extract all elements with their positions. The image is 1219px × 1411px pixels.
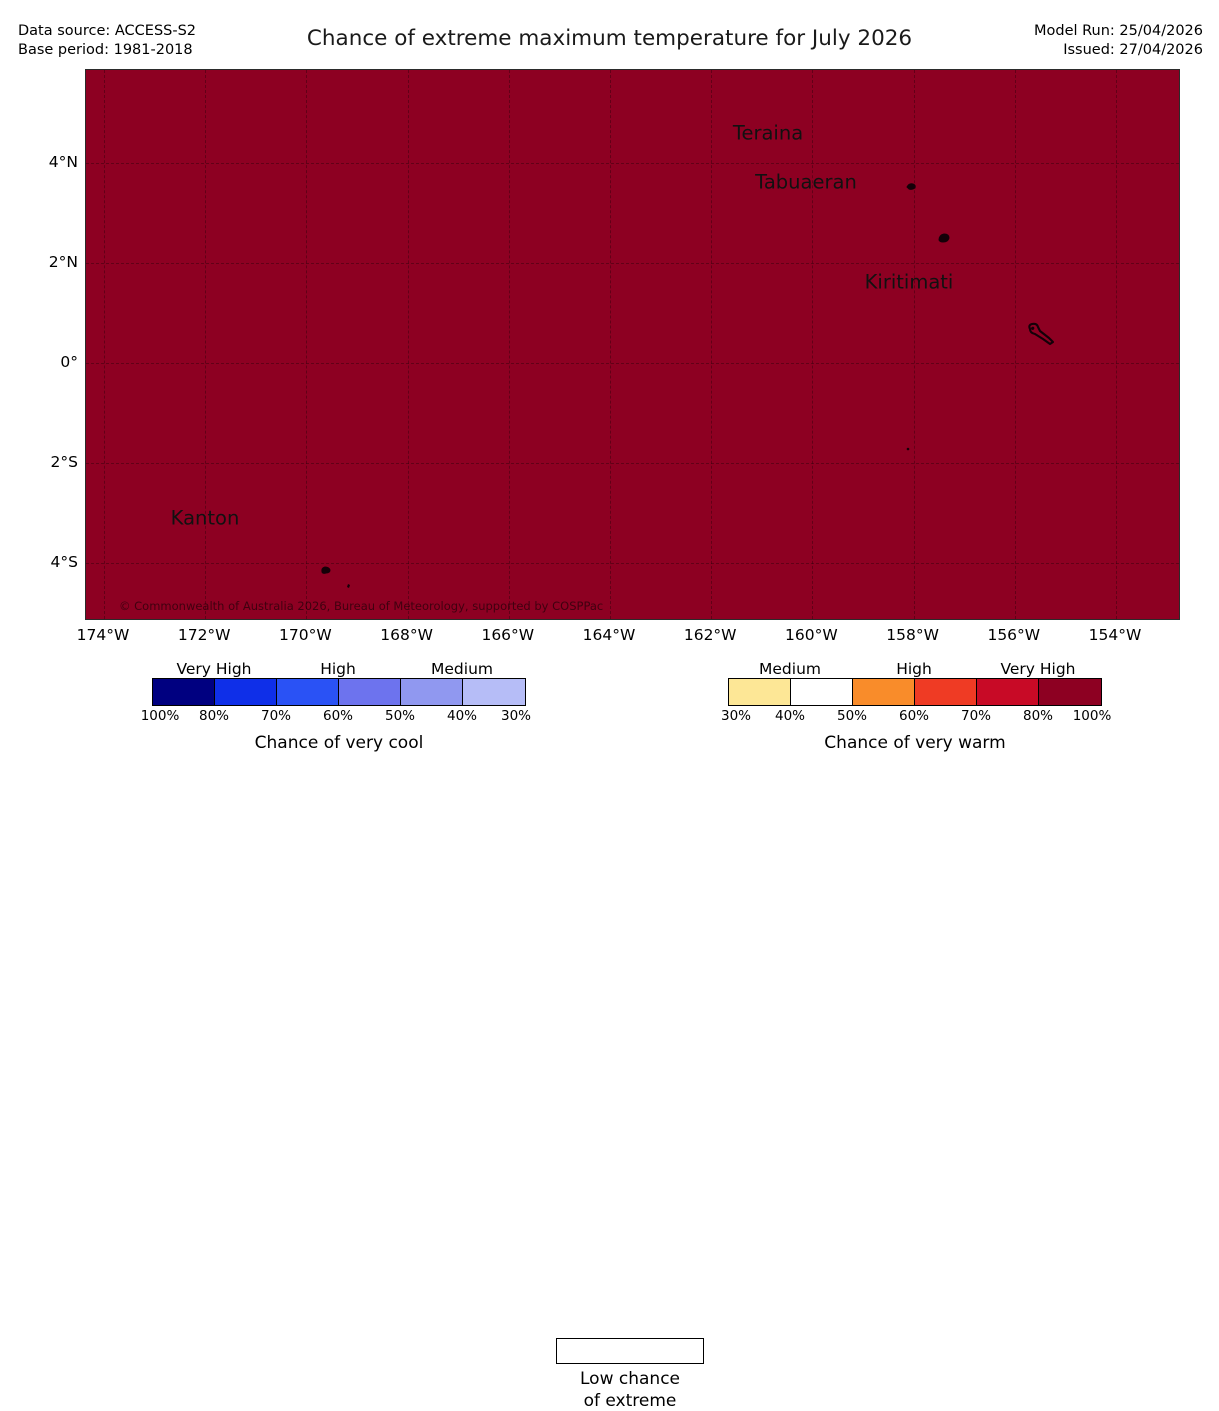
island-outline-jarvis bbox=[904, 445, 912, 453]
colorbar-tick-label: 70% bbox=[261, 708, 291, 724]
colorbar-segment[interactable] bbox=[977, 679, 1039, 705]
issued-text: Issued: 27/04/2026 bbox=[1034, 41, 1203, 60]
gridline-horizontal bbox=[86, 163, 1179, 164]
x-tick-label: 170°W bbox=[279, 626, 332, 644]
colorbar-warm-title: Chance of very warm bbox=[824, 733, 1005, 753]
gridline-vertical bbox=[205, 70, 206, 619]
colorbar-segment[interactable] bbox=[153, 679, 215, 705]
gridline-vertical bbox=[914, 70, 915, 619]
x-tick-label: 158°W bbox=[886, 626, 939, 644]
colorbar-tick-label: 40% bbox=[447, 708, 477, 724]
gridline-vertical bbox=[1116, 70, 1117, 619]
colorbar-tick-label: 50% bbox=[385, 708, 415, 724]
low-chance-label-line1: Low chance bbox=[580, 1369, 680, 1389]
low-chance-label-line2: of extreme bbox=[584, 1391, 677, 1411]
gridline-vertical bbox=[1015, 70, 1016, 619]
colorbar-segment[interactable] bbox=[463, 679, 525, 705]
place-label-kanton: Kanton bbox=[171, 507, 240, 530]
gridline-horizontal bbox=[86, 463, 1179, 464]
island-outline-kanton bbox=[319, 564, 333, 576]
gridline-vertical bbox=[408, 70, 409, 619]
colorbar-category-label: Very High bbox=[1000, 660, 1075, 678]
colorbar-category-label: Very High bbox=[176, 660, 251, 678]
colorbar-tick-label: 60% bbox=[899, 708, 929, 724]
colorbar-cool-title: Chance of very cool bbox=[255, 733, 424, 753]
colorbar-tick-label: 100% bbox=[141, 708, 180, 724]
colorbar-segment[interactable] bbox=[277, 679, 339, 705]
x-tick-label: 164°W bbox=[583, 626, 636, 644]
colorbar-cool-strip[interactable] bbox=[152, 678, 526, 706]
gridline-horizontal bbox=[86, 263, 1179, 264]
place-label-kiritimati: Kiritimati bbox=[865, 271, 954, 294]
colorbar-warm-strip[interactable] bbox=[728, 678, 1102, 706]
map-panel[interactable]: TerainaTabuaeranKiritimatiKanton © Commo… bbox=[85, 69, 1180, 620]
y-tick-label: 2°S bbox=[51, 453, 78, 471]
model-run-text: Model Run: 25/04/2026 bbox=[1034, 22, 1203, 41]
gridline-vertical bbox=[306, 70, 307, 619]
colorbar-tick-label: 80% bbox=[199, 708, 229, 724]
copyright-text: © Commonwealth of Australia 2026, Bureau… bbox=[119, 599, 603, 613]
x-tick-label: 174°W bbox=[77, 626, 130, 644]
colorbar-tick-label: 100% bbox=[1073, 708, 1112, 724]
x-tick-label: 162°W bbox=[684, 626, 737, 644]
x-tick-label: 156°W bbox=[987, 626, 1040, 644]
colorbar-category-label: High bbox=[896, 660, 932, 678]
gridline-vertical bbox=[812, 70, 813, 619]
place-label-teraina: Teraina bbox=[733, 122, 803, 145]
island-outline-enderbury bbox=[345, 582, 353, 590]
island-outline-tabuaeran bbox=[935, 231, 953, 245]
colorbar-category-label: Medium bbox=[431, 660, 493, 678]
colorbar-segment[interactable] bbox=[853, 679, 915, 705]
gridline-vertical bbox=[104, 70, 105, 619]
colorbar-segment[interactable] bbox=[215, 679, 277, 705]
colorbar-category-label: Medium bbox=[759, 660, 821, 678]
x-tick-label: 172°W bbox=[178, 626, 231, 644]
gridline-horizontal bbox=[86, 363, 1179, 364]
colorbar-tick-label: 30% bbox=[721, 708, 751, 724]
island-outline-teraina bbox=[904, 180, 920, 192]
gridline-vertical bbox=[610, 70, 611, 619]
colorbar-category-label: High bbox=[320, 660, 356, 678]
x-tick-label: 168°W bbox=[380, 626, 433, 644]
x-tick-label: 166°W bbox=[481, 626, 534, 644]
gridline-vertical bbox=[509, 70, 510, 619]
colorbar-segment[interactable] bbox=[1039, 679, 1101, 705]
legend: Very HighHighMedium 100%80%70%60%50%40%3… bbox=[0, 660, 1219, 758]
y-tick-label: 4°S bbox=[51, 553, 78, 571]
island-outline-kiritimati bbox=[1023, 321, 1057, 349]
colorbar-tick-label: 40% bbox=[775, 708, 805, 724]
header-metadata-right: Model Run: 25/04/2026 Issued: 27/04/2026 bbox=[1034, 22, 1203, 60]
place-label-tabuaeran: Tabuaeran bbox=[755, 171, 857, 194]
colorbar-tick-label: 80% bbox=[1023, 708, 1053, 724]
x-tick-label: 154°W bbox=[1089, 626, 1142, 644]
y-tick-label: 0° bbox=[60, 353, 78, 371]
low-chance-swatch[interactable] bbox=[556, 1338, 704, 1364]
colorbar-segment[interactable] bbox=[401, 679, 463, 705]
x-tick-label: 160°W bbox=[785, 626, 838, 644]
y-tick-label: 2°N bbox=[49, 253, 78, 271]
colorbar-tick-label: 50% bbox=[837, 708, 867, 724]
colorbar-tick-label: 60% bbox=[323, 708, 353, 724]
gridline-vertical bbox=[711, 70, 712, 619]
colorbar-segment[interactable] bbox=[729, 679, 791, 705]
colorbar-segment[interactable] bbox=[791, 679, 853, 705]
colorbar-tick-label: 30% bbox=[501, 708, 531, 724]
colorbar-segment[interactable] bbox=[339, 679, 401, 705]
colorbar-tick-label: 70% bbox=[961, 708, 991, 724]
colorbar-segment[interactable] bbox=[915, 679, 977, 705]
gridline-horizontal bbox=[86, 563, 1179, 564]
y-tick-label: 4°N bbox=[49, 153, 78, 171]
